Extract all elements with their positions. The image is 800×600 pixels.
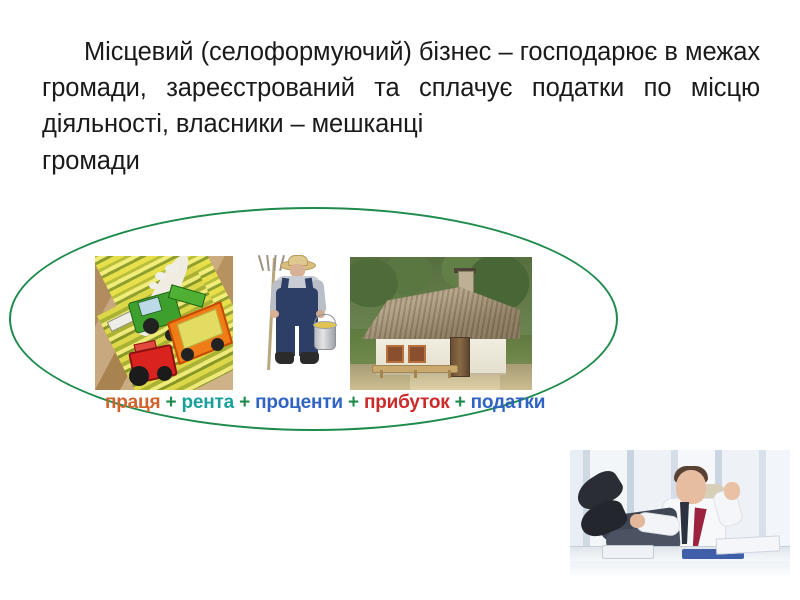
harvester-clipart <box>95 256 233 390</box>
businessman-head <box>676 470 706 504</box>
formula-term: податки <box>471 392 546 413</box>
farmer-boot-left <box>275 352 294 364</box>
trailer-wheel <box>211 338 224 351</box>
formula-operator: + <box>234 392 255 413</box>
businessman-hand-lower <box>630 514 645 528</box>
bench-leg <box>380 370 383 378</box>
smoke-puff-icon <box>155 272 166 280</box>
formula-term: прибуток <box>364 392 450 413</box>
cottage-window <box>408 345 426 363</box>
harvester-wheel <box>143 318 159 334</box>
tractor-wheel <box>157 366 172 381</box>
farmer-boot-right <box>300 352 319 364</box>
tractor-wheel <box>129 366 149 386</box>
formula-operator: + <box>343 392 364 413</box>
farmer-photo <box>246 252 343 390</box>
title-line-4: громади <box>42 143 760 179</box>
income-formula: праця + рента + проценти + прибуток + по… <box>105 392 545 414</box>
tablet-device <box>602 545 654 559</box>
leg-gap <box>295 326 299 356</box>
formula-operator: + <box>160 392 181 413</box>
farmer-hand-left <box>270 310 279 318</box>
formula-term: рента <box>181 392 234 413</box>
pitchfork-tines-icon <box>259 255 283 271</box>
formula-term: праця <box>105 392 160 413</box>
bench-leg <box>414 370 417 378</box>
page-title: Місцевий (селоформуючий) бізнес – господ… <box>42 34 760 179</box>
title-line-1: Місцевий (селоформуючий) бізнес – господ… <box>84 38 657 66</box>
businessman-hand-raised <box>724 482 740 500</box>
bucket-contents <box>313 321 337 329</box>
cottage-window <box>386 345 404 363</box>
formula-operator: + <box>450 392 471 413</box>
smoke-puff-icon <box>149 282 158 289</box>
paper-stack <box>716 535 781 554</box>
smoke-puff-icon <box>165 264 178 273</box>
bench-leg <box>448 370 451 378</box>
formula-term: проценти <box>255 392 343 413</box>
slide-canvas: Місцевий (селоформуючий) бізнес – господ… <box>0 0 800 600</box>
businessman-photo <box>570 450 790 575</box>
trailer-wheel <box>181 348 194 361</box>
cottage-photo <box>350 257 532 390</box>
